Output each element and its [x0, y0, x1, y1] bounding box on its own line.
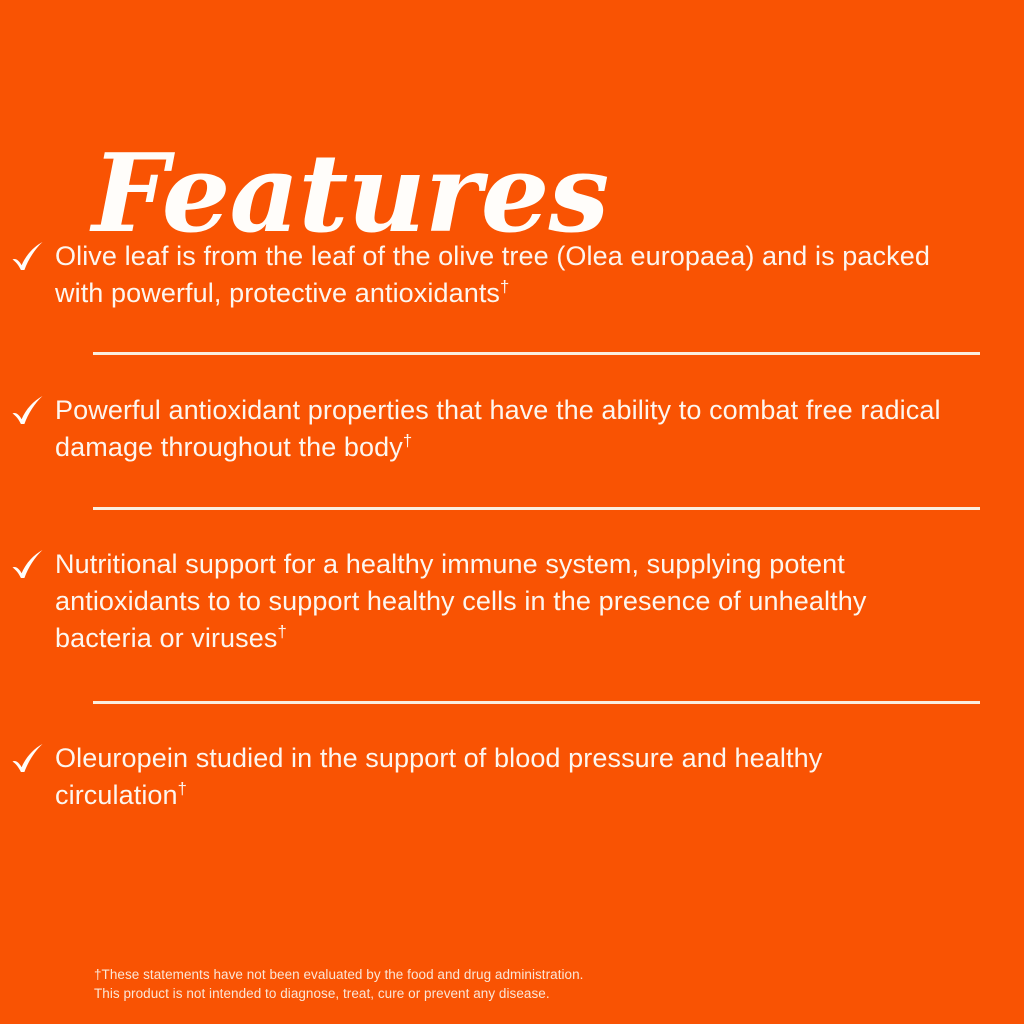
feature-item-4: Oleuropein studied in the support of blo… [0, 740, 1024, 814]
footnote-marker-4: † [178, 779, 187, 798]
check-icon-cell-4 [0, 740, 55, 777]
feature-text-1: Olive leaf is from the leaf of the olive… [55, 238, 965, 312]
feature-text-4: Oleuropein studied in the support of blo… [55, 740, 965, 814]
features-slide: Features Olive leaf is from the leaf of … [0, 0, 1024, 1024]
feature-body-4: Oleuropein studied in the support of blo… [55, 743, 822, 810]
disclaimer-line-1: †These statements have not been evaluate… [94, 966, 583, 985]
feature-item-3: Nutritional support for a healthy immune… [0, 546, 1024, 657]
check-icon-cell-3 [0, 546, 55, 583]
check-icon [11, 241, 45, 275]
feature-text-2: Powerful antioxidant properties that hav… [55, 392, 965, 466]
feature-body-1: Olive leaf is from the leaf of the olive… [55, 241, 930, 308]
feature-body-2: Powerful antioxidant properties that hav… [55, 395, 941, 462]
feature-text-3: Nutritional support for a healthy immune… [55, 546, 965, 657]
footnote-marker-3: † [278, 622, 287, 641]
disclaimer-line-2: This product is not intended to diagnose… [94, 985, 583, 1004]
check-icon-cell-2 [0, 392, 55, 429]
legal-disclaimer: †These statements have not been evaluate… [94, 966, 583, 1003]
footnote-marker-1: † [500, 277, 509, 296]
footnote-marker-2: † [403, 431, 412, 450]
feature-body-3: Nutritional support for a healthy immune… [55, 549, 866, 653]
check-icon [11, 743, 45, 777]
check-icon [11, 395, 45, 429]
check-icon [11, 549, 45, 583]
feature-item-2: Powerful antioxidant properties that hav… [0, 392, 1024, 466]
check-icon-cell-1 [0, 238, 55, 275]
feature-item-1: Olive leaf is from the leaf of the olive… [0, 238, 1024, 312]
page-title: Features [92, 140, 608, 248]
features-list: Olive leaf is from the leaf of the olive… [0, 238, 1024, 814]
